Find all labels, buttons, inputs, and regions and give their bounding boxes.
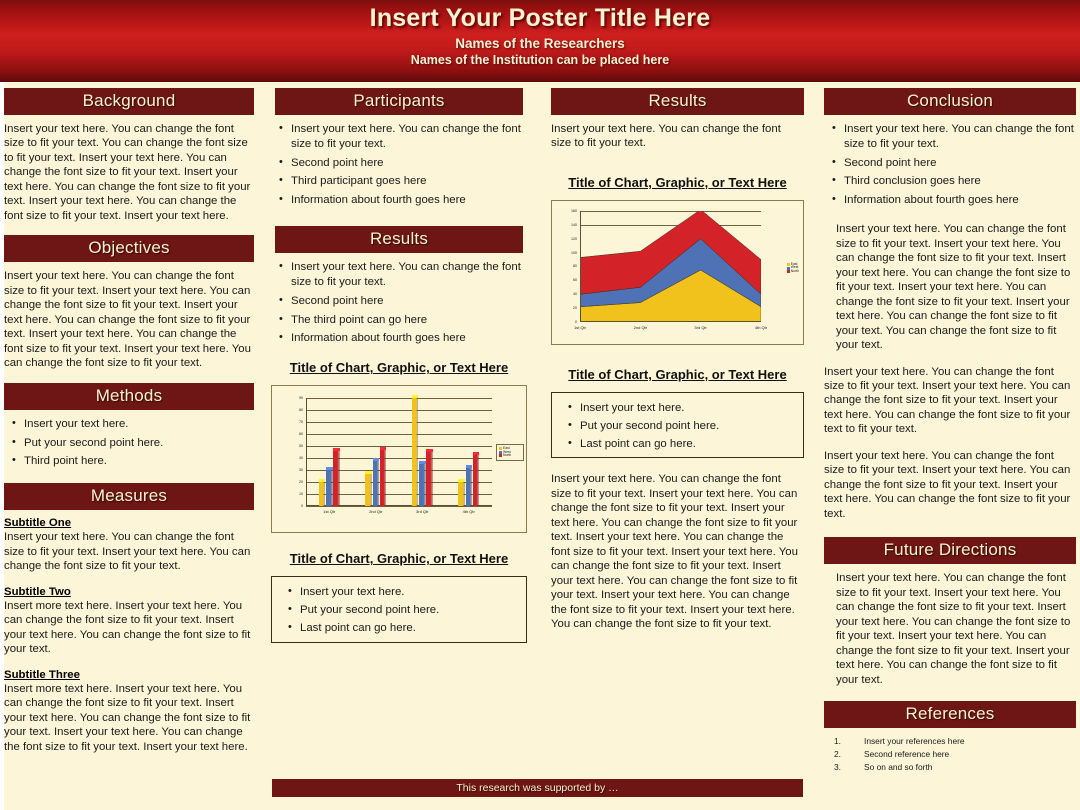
bar-chart-caption: Title of Chart, Graphic, or Text Here (271, 360, 527, 375)
bar-top (319, 479, 326, 482)
bar-face (333, 451, 340, 506)
conclusion-paragraph-1: Insert your text here. You can change th… (836, 222, 1076, 352)
section-header-participants: Participants (275, 88, 523, 115)
list-caption-col2: Title of Chart, Graphic, or Text Here (271, 551, 527, 566)
y-axis-tick-label: 10 (299, 492, 303, 496)
bar-east-2 (365, 474, 372, 506)
measures-block-one: Subtitle One Insert your text here. You … (4, 517, 254, 573)
subtitle-two: Subtitle Two (4, 586, 254, 598)
list-item: Insert your text here. You can change th… (291, 122, 527, 152)
bulleted-box-col2: Insert your text here. Put your second p… (271, 576, 527, 642)
y-axis-tick-label: 80 (299, 408, 303, 412)
bar-face (473, 455, 480, 507)
bar-top (458, 479, 465, 482)
poster-canvas: Insert Your Poster Title Here Names of t… (0, 0, 1080, 810)
y-axis-tick-label: 160 (571, 209, 577, 213)
list-item: Third point here. (24, 454, 254, 469)
column-2: Participants Insert your text here. You … (271, 88, 527, 657)
bar-face (458, 482, 465, 506)
list-item: Last point can go here. (580, 437, 795, 452)
closing-paragraph-col3: Insert your text here. You can change th… (551, 472, 804, 631)
bar-top (412, 395, 419, 398)
list-item: Insert your text here. You can change th… (844, 122, 1076, 152)
box-bullet-list-col3: Insert your text here. Put your second p… (560, 401, 795, 451)
section-header-objectives: Objectives (4, 235, 254, 262)
bar-face (466, 468, 473, 506)
subtitle-one-paragraph: Insert your text here. You can change th… (4, 530, 254, 573)
bar-west-2 (373, 461, 380, 507)
legend-swatch (499, 454, 502, 457)
results-paragraph-col3: Insert your text here. You can change th… (551, 122, 804, 151)
list-item: The third point can go here (291, 313, 527, 328)
section-header-measures: Measures (4, 483, 254, 510)
conclusion-bullet-list: Insert your text here. You can change th… (824, 122, 1076, 208)
list-item: Insert your text here. (24, 417, 254, 432)
x-axis-tick-label: 3rd Qtr (694, 325, 706, 330)
area-chart-svg (580, 211, 761, 322)
axis-line (580, 321, 761, 322)
participants-bullet-list: Insert your text here. You can change th… (271, 122, 527, 208)
list-item: Third conclusion goes here (844, 174, 1076, 189)
column-4: Conclusion Insert your text here. You ca… (824, 88, 1076, 774)
y-axis-tick-label: 70 (299, 420, 303, 424)
section-header-methods: Methods (4, 383, 254, 410)
objectives-paragraph: Insert your text here. You can change th… (4, 269, 254, 370)
y-axis-tick-label: 80 (573, 264, 577, 268)
list-item: Insert your references here (830, 735, 1076, 748)
list-item: Insert your text here. (580, 401, 795, 416)
axis-line (306, 398, 307, 506)
bar-top (326, 467, 333, 470)
y-axis-tick-label: 0 (301, 504, 303, 508)
bar-west-3 (419, 464, 426, 506)
bar-top (380, 447, 387, 450)
future-directions-paragraph: Insert your text here. You can change th… (836, 571, 1076, 687)
area-chart: 0204060801001201401601st Qtr2nd Qtr3rd Q… (551, 200, 804, 345)
bulleted-box-col3: Insert your text here. Put your second p… (551, 392, 804, 458)
section-header-background: Background (4, 88, 254, 115)
x-axis-tick-label: 3rd Qtr (416, 509, 428, 514)
poster-institution: Names of the Institution can be placed h… (0, 53, 1080, 67)
methods-bullet-list: Insert your text here. Put your second p… (4, 417, 254, 469)
x-axis-tick-label: 1st Qtr (323, 509, 335, 514)
bar-north-2 (380, 450, 387, 506)
gridline (306, 398, 492, 399)
list-item: Second point here (291, 156, 527, 171)
section-header-results-col3: Results (551, 88, 804, 115)
bar-face (419, 464, 426, 506)
bar-top (473, 452, 480, 455)
box-bullet-list-col2: Insert your text here. Put your second p… (280, 585, 518, 635)
support-footer-banner: This research was supported by … (272, 779, 803, 797)
results-bullet-list-col2: Insert your text here. You can change th… (271, 260, 527, 346)
bar-west-1 (326, 470, 333, 506)
list-item: Information about fourth goes here (844, 193, 1076, 208)
y-axis-tick-label: 40 (573, 292, 577, 296)
y-axis-tick-label: 40 (299, 456, 303, 460)
bar-face (426, 452, 433, 506)
subtitle-two-paragraph: Insert more text here. Insert your text … (4, 599, 254, 657)
legend-label: North (503, 454, 511, 457)
bar-east-1 (319, 482, 326, 506)
measures-block-three: Subtitle Three Insert more text here. In… (4, 669, 254, 754)
background-paragraph: Insert your text here. You can change th… (4, 122, 254, 223)
poster-header-banner: Insert Your Poster Title Here Names of t… (0, 0, 1080, 82)
subtitle-three: Subtitle Three (4, 669, 254, 681)
legend-swatch (787, 270, 790, 273)
y-axis-tick-label: 0 (575, 320, 577, 324)
list-item: Insert your text here. You can change th… (291, 260, 527, 290)
list-item: Third participant goes here (291, 174, 527, 189)
bar-chart: 01020304050607080901st Qtr2nd Qtr3rd Qtr… (271, 385, 527, 533)
bar-east-4 (458, 482, 465, 506)
legend-entry: North (499, 454, 521, 457)
column-3: Results Insert your text here. You can c… (551, 88, 804, 644)
area-chart-legend: EastWestNorth (787, 263, 799, 273)
bar-top (365, 471, 372, 474)
subtitle-three-paragraph: Insert more text here. Insert your text … (4, 682, 254, 754)
conclusion-paragraph-2: Insert your text here. You can change th… (824, 365, 1076, 437)
bar-top (333, 448, 340, 451)
list-item: Insert your text here. (300, 585, 518, 600)
bar-east-3 (412, 398, 419, 506)
gridline (306, 506, 492, 507)
y-axis-tick-label: 90 (299, 396, 303, 400)
axis-line (580, 211, 581, 322)
area-chart-caption: Title of Chart, Graphic, or Text Here (551, 175, 804, 190)
y-axis-tick-label: 60 (299, 432, 303, 436)
gridline (306, 434, 492, 435)
bar-face (373, 461, 380, 507)
legend-entry: North (787, 270, 799, 273)
bar-top (419, 461, 426, 464)
bar-face (365, 474, 372, 506)
references-list: Insert your references here Second refer… (824, 735, 1076, 774)
bar-face (412, 398, 419, 506)
x-axis-tick-label: 2nd Qtr (634, 325, 647, 330)
y-axis-tick-label: 20 (573, 306, 577, 310)
list-item: Last point can go here. (300, 621, 518, 636)
x-axis-tick-label: 1st Qtr (574, 325, 586, 330)
gridline (306, 410, 492, 411)
list-item: Second point here (844, 156, 1076, 171)
y-axis-tick-label: 140 (571, 223, 577, 227)
list-item: Information about fourth goes here (291, 193, 527, 208)
list-item: Information about fourth goes here (291, 331, 527, 346)
section-header-conclusion: Conclusion (824, 88, 1076, 115)
bar-face (380, 450, 387, 506)
y-axis-tick-label: 20 (299, 480, 303, 484)
bar-north-4 (473, 455, 480, 507)
bar-chart-plot-area: 01020304050607080901st Qtr2nd Qtr3rd Qtr… (306, 398, 492, 506)
section-header-results-col2: Results (275, 226, 523, 253)
poster-authors: Names of the Researchers (0, 36, 1080, 51)
list-item: Second reference here (830, 748, 1076, 761)
y-axis-tick-label: 30 (299, 468, 303, 472)
y-axis-tick-label: 60 (573, 278, 577, 282)
bar-top (373, 458, 380, 461)
x-axis-tick-label: 4th Qtr (755, 325, 767, 330)
section-header-future-directions: Future Directions (824, 537, 1076, 564)
page-title: Insert Your Poster Title Here (0, 4, 1080, 33)
area-chart-plot-area: 0204060801001201401601st Qtr2nd Qtr3rd Q… (580, 211, 761, 322)
bar-chart-legend: EastWestNorth (496, 444, 524, 460)
bar-top (466, 465, 473, 468)
bar-face (319, 482, 326, 506)
section-header-references: References (824, 701, 1076, 728)
bar-west-4 (466, 468, 473, 506)
list-caption-col3: Title of Chart, Graphic, or Text Here (551, 367, 804, 382)
bar-face (326, 470, 333, 506)
column-1: Background Insert your text here. You ca… (4, 88, 254, 766)
list-item: Put your second point here. (24, 436, 254, 451)
y-axis-tick-label: 50 (299, 444, 303, 448)
list-item: Put your second point here. (580, 419, 795, 434)
legend-label: North (791, 270, 799, 273)
measures-block-two: Subtitle Two Insert more text here. Inse… (4, 586, 254, 657)
list-item: So on and so forth (830, 761, 1076, 774)
y-axis-tick-label: 100 (571, 251, 577, 255)
conclusion-paragraph-3: Insert your text here. You can change th… (824, 449, 1076, 521)
bar-north-1 (333, 451, 340, 506)
gridline (306, 422, 492, 423)
bar-north-3 (426, 452, 433, 506)
list-item: Put your second point here. (300, 603, 518, 618)
x-axis-tick-label: 4th Qtr (463, 509, 475, 514)
list-item: Second point here (291, 294, 527, 309)
y-axis-tick-label: 120 (571, 237, 577, 241)
bar-top (426, 449, 433, 452)
x-axis-tick-label: 2nd Qtr (369, 509, 382, 514)
subtitle-one: Subtitle One (4, 517, 254, 529)
